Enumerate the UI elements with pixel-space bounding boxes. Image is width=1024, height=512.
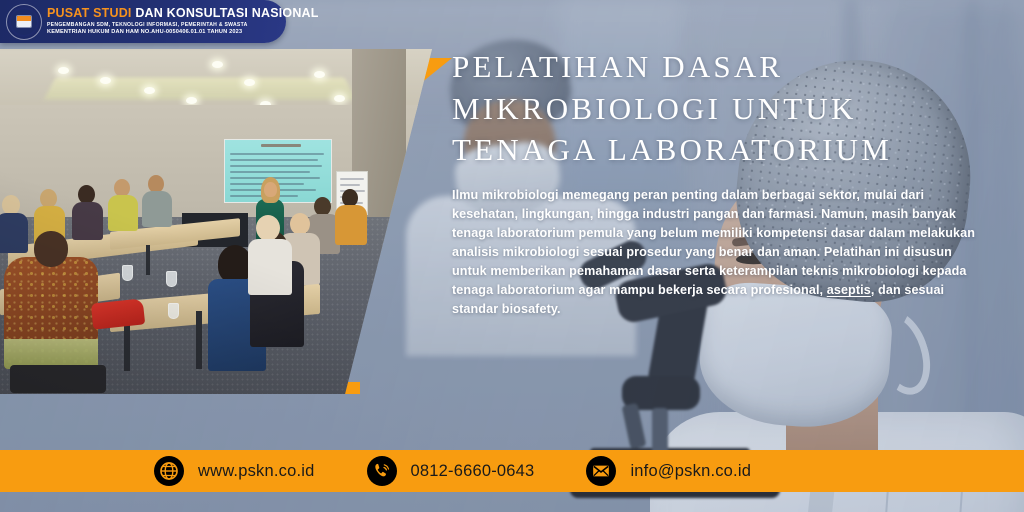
globe-icon: [154, 456, 184, 486]
page-title-line-2: MIKROBIOLOGI UNTUK: [452, 88, 1008, 130]
promotional-banner: PUSAT STUDI DAN KONSULTASI NASIONAL PENG…: [0, 0, 1024, 512]
emblem-ring: [6, 4, 42, 40]
brand-name-highlight: PUSAT STUDI: [47, 6, 132, 20]
brand-tagline: PENGEMBANGAN SDM, TEKNOLOGI INFORMASI, P…: [47, 23, 319, 28]
hero-description-part1: Ilmu mikrobiologi memegang peran penting…: [452, 188, 975, 298]
hero-description-emphasis: aseptis: [827, 283, 871, 297]
phone-icon: [367, 456, 397, 486]
brand-legal-registration: KEMENTRIAN HUKUM DAN HAM NO.AHU-0050406.…: [47, 30, 319, 36]
contact-email[interactable]: info@pskn.co.id: [586, 456, 751, 486]
brand-text-block: PUSAT STUDI DAN KONSULTASI NASIONAL PENG…: [47, 7, 319, 36]
hero-content: PELATIHAN DASAR MIKROBIOLOGI UNTUK TENAG…: [452, 46, 1008, 320]
brand-name-rest: DAN KONSULTASI NASIONAL: [135, 6, 318, 20]
page-title-line-1: PELATIHAN DASAR: [452, 46, 1008, 88]
contact-website[interactable]: www.pskn.co.id: [154, 456, 315, 486]
envelope-icon: [586, 456, 616, 486]
hero-description: Ilmu mikrobiologi memegang peran penting…: [452, 186, 980, 320]
contact-phone-label: 0812-6660-0643: [411, 462, 535, 481]
contact-footer-bar: www.pskn.co.id 0812-6660-0643 info@p: [0, 450, 1024, 492]
contact-phone[interactable]: 0812-6660-0643: [367, 456, 535, 486]
contact-email-label: info@pskn.co.id: [630, 462, 751, 481]
brand-name-row: PUSAT STUDI DAN KONSULTASI NASIONAL: [47, 7, 319, 20]
brand-logo-bar[interactable]: PUSAT STUDI DAN KONSULTASI NASIONAL PENG…: [0, 0, 286, 43]
page-title-line-3: TENAGA LABORATORIUM: [452, 129, 1008, 171]
institution-emblem-icon: [6, 4, 42, 40]
contact-website-label: www.pskn.co.id: [198, 462, 315, 481]
